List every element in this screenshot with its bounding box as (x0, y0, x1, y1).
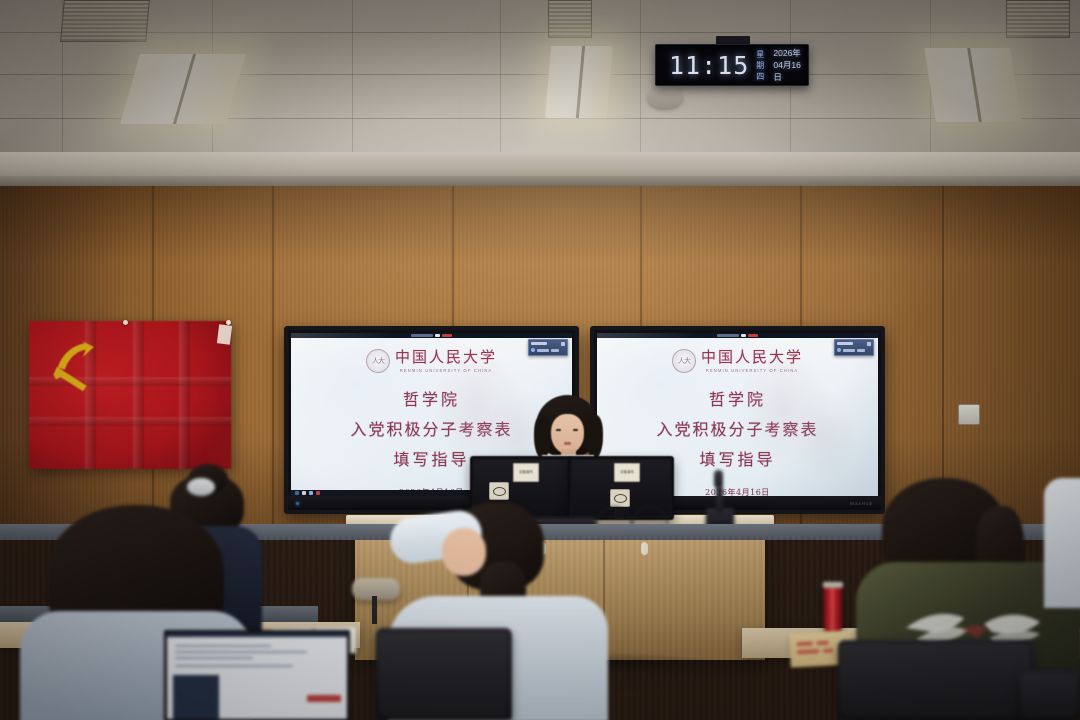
slide-line-3: 填写指导 (393, 452, 469, 468)
slide-line-2: 入党积极分子考察表 (350, 422, 512, 438)
slide-line-3-right: 填写指导 (699, 452, 775, 468)
clock-weekday: 星期四 (756, 49, 769, 82)
laptop-front-left[interactable] (164, 630, 348, 720)
chair-center[interactable] (376, 628, 512, 720)
presenter-face (551, 414, 584, 454)
slide-line-2-right: 入党积极分子考察表 (656, 422, 818, 438)
hair-scrunchie (187, 478, 215, 496)
university-name-en: RENMIN UNIVERSITY OF CHINA (395, 368, 497, 373)
slide-line-1-right: 哲学院 (709, 392, 766, 408)
university-logo-right: 人大 中国人民大学 RENMIN UNIVERSITY OF CHINA (672, 349, 803, 373)
raised-arm-right (442, 528, 486, 576)
ceiling-digital-clock: 11:15 星期四 2026年04月16日 (655, 44, 809, 86)
tumbler-lid (823, 582, 843, 588)
university-name-cn: 中国人民大学 (395, 350, 497, 365)
handheld-microphone[interactable] (714, 470, 723, 488)
slide-date-right: 2026年4月16日 (705, 487, 770, 496)
chair-right[interactable] (838, 640, 1034, 720)
hammer-and-sickle-icon (45, 337, 103, 393)
university-name-cn-right: 中国人民大学 (701, 350, 803, 365)
chair-bottom-right[interactable] (1018, 670, 1080, 720)
university-seal-icon: 人大 (366, 349, 390, 373)
slide-top-bar (291, 333, 572, 338)
communist-party-flag (29, 321, 231, 469)
student-far-right-edge (1044, 478, 1080, 608)
red-tumbler[interactable] (824, 586, 842, 633)
university-seal-icon-right: 人大 (672, 349, 696, 373)
equipment-label-left: 设备编号 (513, 463, 539, 482)
slide-top-bar-right (597, 333, 878, 338)
mic-pole (716, 486, 723, 512)
monitor-logo-left (489, 482, 509, 500)
wall-control-panel[interactable] (958, 404, 980, 425)
flag-hanging-tag (217, 324, 232, 344)
flag-pin-left (123, 320, 128, 325)
slide-notification-popup-right[interactable] (834, 339, 874, 356)
slide-notification-popup[interactable] (528, 339, 568, 356)
university-name-en-right: RENMIN UNIVERSITY OF CHINA (701, 368, 803, 373)
equipment-label-right: 设备编号 (614, 463, 640, 482)
clock-time: 11:15 (669, 53, 749, 78)
slide-line-1: 哲学院 (403, 392, 460, 408)
classroom-photo: 11:15 星期四 2026年04月16日 (0, 0, 1080, 720)
clock-date: 2026年04月16日 (773, 47, 808, 83)
power-led-icon (296, 502, 299, 505)
university-logo: 人大 中国人民大学 RENMIN UNIVERSITY OF CHINA (366, 349, 497, 373)
monitor-logo-right (610, 489, 630, 507)
podium-chair-post (372, 596, 377, 624)
ceiling (0, 0, 1080, 172)
